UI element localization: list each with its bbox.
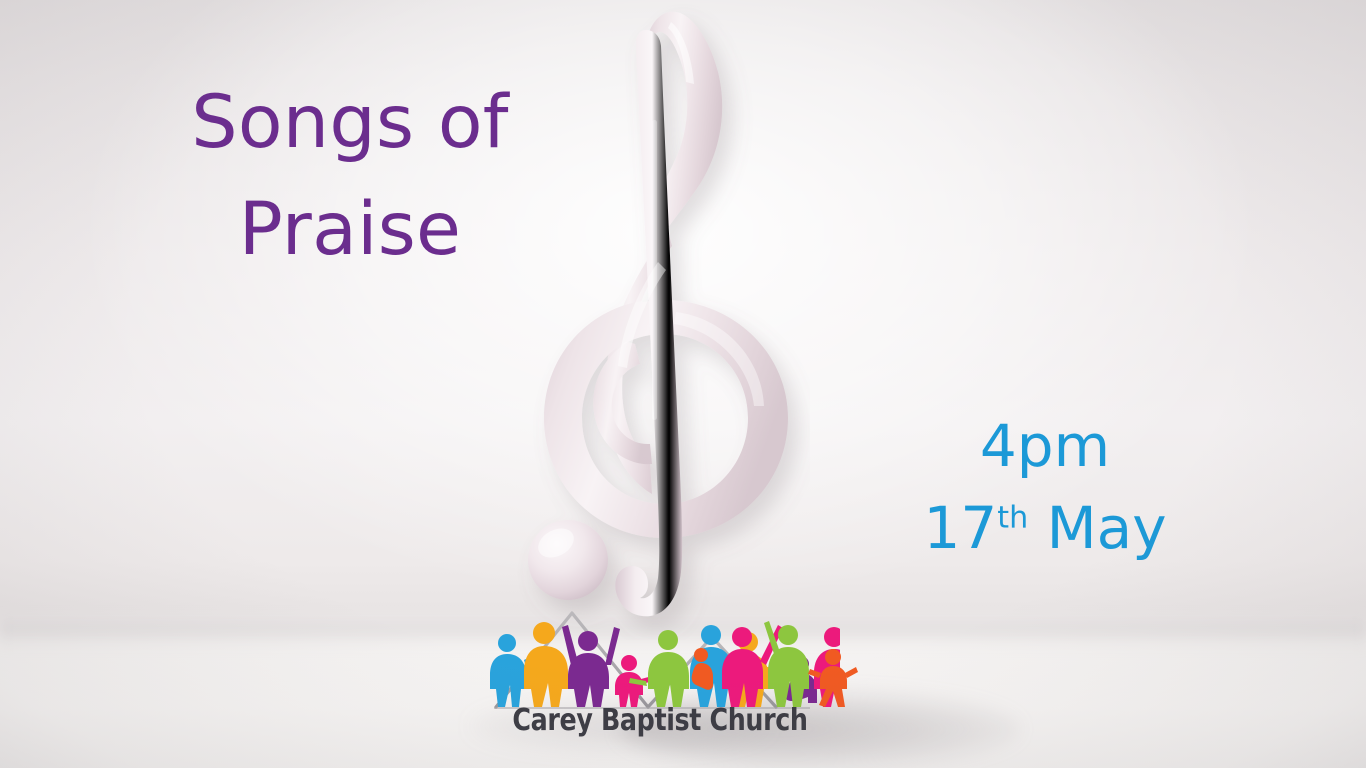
figure-adult-yellow-arm-out: [524, 622, 568, 707]
figure-adult-purple-arms-up: [562, 625, 620, 707]
title-line-1: Songs of: [150, 70, 550, 177]
figure-child-orange-running: [808, 649, 858, 707]
event-day-number: 17: [923, 494, 997, 562]
event-date: 17th May: [880, 487, 1210, 569]
figure-adult-green-arm-up: [764, 621, 809, 707]
event-day-suffix: th: [997, 501, 1028, 536]
slide-canvas: Songs of Praise 4pm 17th May: [0, 0, 1366, 768]
event-schedule: 4pm 17th May: [880, 405, 1210, 570]
event-month: May: [1047, 494, 1167, 562]
church-name: Carey Baptist Church: [491, 703, 829, 738]
event-time: 4pm: [880, 405, 1210, 487]
slide-title: Songs of Praise: [150, 70, 550, 283]
title-line-2: Praise: [150, 177, 550, 284]
